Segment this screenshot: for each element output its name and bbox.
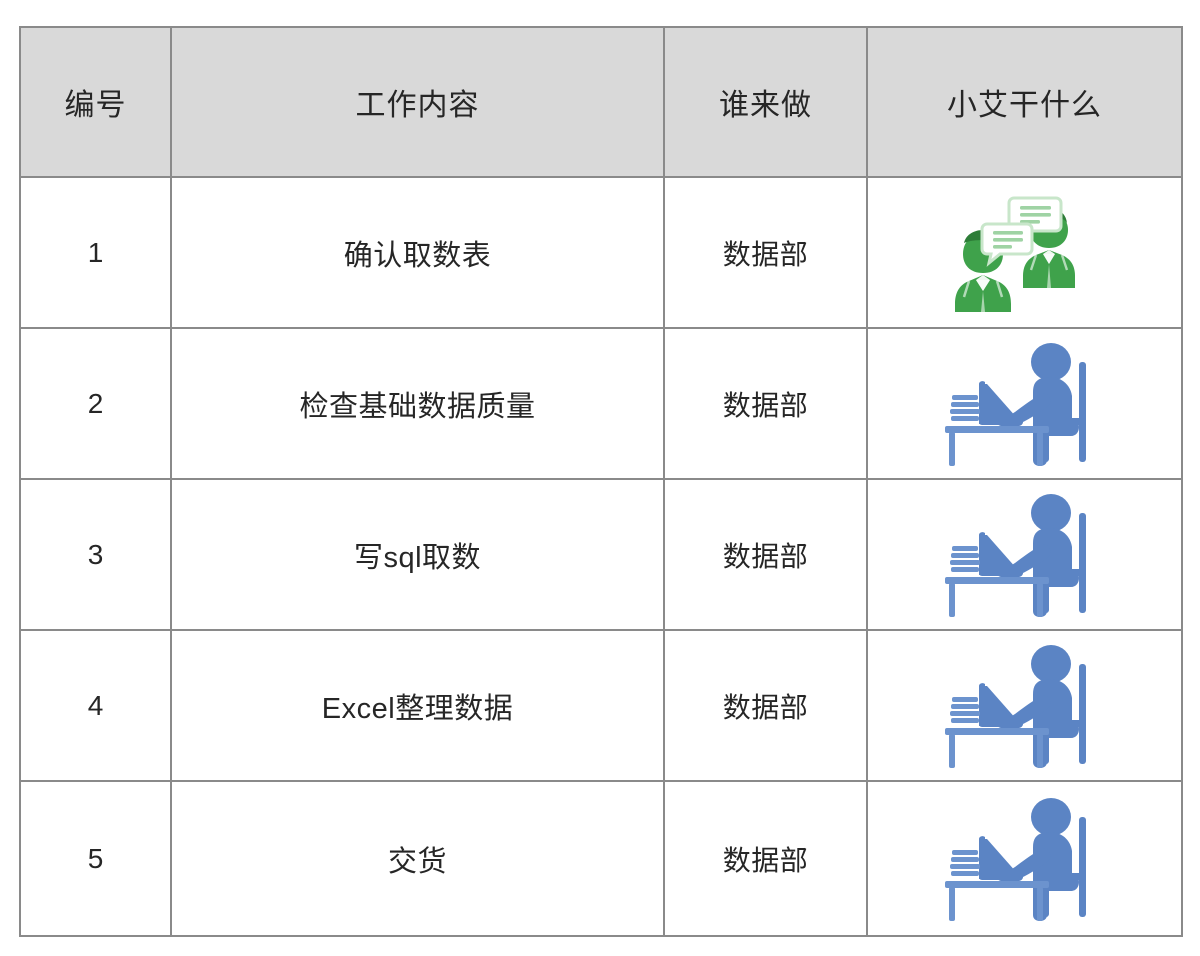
- column-header-work: 工作内容: [171, 27, 664, 177]
- cell-icon: [867, 781, 1182, 936]
- person-at-desk-with-laptop-icon: [939, 340, 1111, 468]
- person-at-desk-with-laptop-icon: [939, 795, 1111, 923]
- cell-work: Excel整理数据: [171, 630, 664, 781]
- cell-no: 4: [20, 630, 171, 781]
- cell-who: 数据部: [664, 630, 867, 781]
- table-header: 编号 工作内容 谁来做 小艾干什么: [20, 27, 1182, 177]
- cell-icon: [867, 177, 1182, 328]
- page-root: 编号 工作内容 谁来做 小艾干什么 1 确认取数表 数据部: [0, 0, 1200, 956]
- cell-who: 数据部: [664, 177, 867, 328]
- table-body: 1 确认取数表 数据部: [20, 177, 1182, 936]
- column-header-who: 谁来做: [664, 27, 867, 177]
- cell-icon: [867, 328, 1182, 479]
- cell-who: 数据部: [664, 479, 867, 630]
- cell-no: 2: [20, 328, 171, 479]
- icon-container: [868, 491, 1181, 619]
- cell-work: 交货: [171, 781, 664, 936]
- icon-container: [868, 642, 1181, 770]
- work-breakdown-table: 编号 工作内容 谁来做 小艾干什么 1 确认取数表 数据部: [19, 26, 1183, 937]
- cell-no: 1: [20, 177, 171, 328]
- cell-work: 写sql取数: [171, 479, 664, 630]
- column-header-what: 小艾干什么: [867, 27, 1182, 177]
- table-row: 3 写sql取数 数据部: [20, 479, 1182, 630]
- cell-no: 5: [20, 781, 171, 936]
- column-header-no: 编号: [20, 27, 171, 177]
- table-row: 5 交货 数据部: [20, 781, 1182, 936]
- cell-no: 3: [20, 479, 171, 630]
- cell-work: 确认取数表: [171, 177, 664, 328]
- table-row: 4 Excel整理数据 数据部: [20, 630, 1182, 781]
- cell-who: 数据部: [664, 781, 867, 936]
- two-people-discussing-icon: [945, 194, 1105, 312]
- icon-container: [868, 795, 1181, 923]
- cell-icon: [867, 479, 1182, 630]
- icon-container: [868, 340, 1181, 468]
- cell-work: 检查基础数据质量: [171, 328, 664, 479]
- icon-container: [868, 194, 1181, 312]
- table-row: 2 检查基础数据质量 数据部: [20, 328, 1182, 479]
- cell-who: 数据部: [664, 328, 867, 479]
- person-at-desk-with-laptop-icon: [939, 642, 1111, 770]
- table-row: 1 确认取数表 数据部: [20, 177, 1182, 328]
- table-header-row: 编号 工作内容 谁来做 小艾干什么: [20, 27, 1182, 177]
- person-at-desk-with-laptop-icon: [939, 491, 1111, 619]
- cell-icon: [867, 630, 1182, 781]
